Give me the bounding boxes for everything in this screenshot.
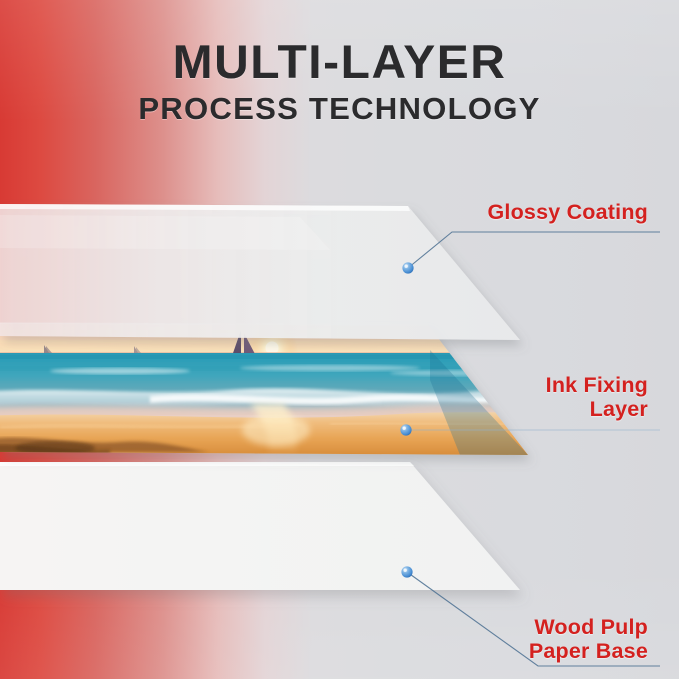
callout-label-ink-fixing-layer: Ink Fixing Layer (546, 373, 648, 421)
callout-line: Ink Fixing (546, 373, 648, 397)
callout-dot-wood[interactable] (401, 566, 412, 577)
leader-glossy-coating (402, 232, 660, 274)
callout-label-glossy-coating: Glossy Coating (488, 200, 649, 224)
callout-dot-ink[interactable] (400, 424, 411, 435)
callout-line: Glossy Coating (488, 200, 649, 224)
leader-ink-fixing (400, 424, 660, 435)
callout-line: Paper Base (529, 639, 648, 663)
infographic-canvas: MULTI-LAYER PROCESS TECHNOLOGY (0, 0, 679, 679)
callout-dot-glossy[interactable] (402, 262, 413, 273)
callout-line: Layer (546, 397, 648, 421)
callout-line: Wood Pulp (529, 615, 648, 639)
callout-label-wood-pulp-paper-base: Wood Pulp Paper Base (529, 615, 648, 663)
callout-leaders (0, 0, 679, 679)
